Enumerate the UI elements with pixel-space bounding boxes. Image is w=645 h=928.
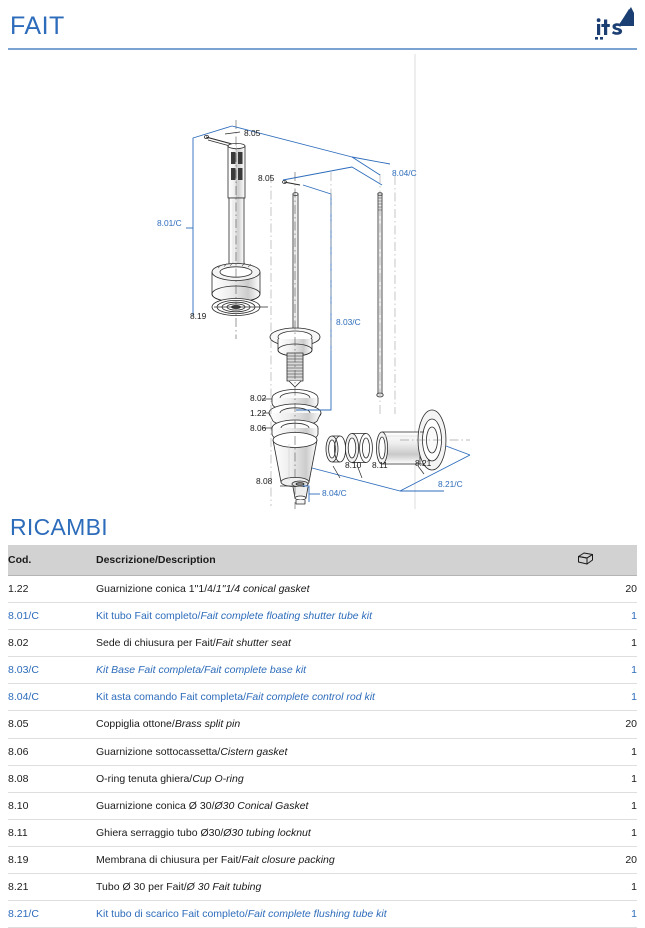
- its-logo: [585, 4, 637, 44]
- part-quantity: 20: [577, 711, 637, 738]
- part-split-pin-top: [204, 135, 232, 146]
- part-code: 8.02: [8, 630, 96, 657]
- part-code: 8.19: [8, 846, 96, 873]
- part-split-pin-mid: [283, 181, 301, 186]
- description-it: Guarnizione conica 1"1/4/: [96, 583, 216, 595]
- column-header-description: Descrizione/Description: [96, 545, 577, 576]
- table-row: 8.02Sede di chiusura per Fait/Fait shutt…: [8, 630, 637, 657]
- callout-8.04C-bot: 8.04/C: [322, 488, 347, 498]
- part-quantity: 1: [577, 630, 637, 657]
- description-it: Kit tubo di scarico Fait completo/: [96, 908, 248, 920]
- description-it: Guarnizione conica Ø 30/: [96, 800, 214, 812]
- description-en: Ø30 Conical Gasket: [214, 800, 308, 812]
- part-description: Ghiera serraggio tubo Ø30/Ø30 tubing loc…: [96, 819, 577, 846]
- part-code: 8.04/C: [8, 684, 96, 711]
- table-row: 8.10Guarnizione conica Ø 30/Ø30 Conical …: [8, 792, 637, 819]
- part-tubing-locknut: [345, 434, 372, 463]
- description-en: Cup O-ring: [192, 773, 243, 785]
- description-en: Ø 30 Fait tubing: [187, 881, 262, 893]
- callout-8.19: 8.19: [190, 311, 207, 321]
- table-row: 8.05Coppiglia ottone/Brass split pin20: [8, 711, 637, 738]
- parts-table-body: 1.22Guarnizione conica 1"1/4/1"1/4 conic…: [8, 576, 637, 928]
- part-description: Sede di chiusura per Fait/Fait shutter s…: [96, 630, 577, 657]
- description-it: Ghiera serraggio tubo Ø30/: [96, 827, 223, 839]
- parts-table-header-row: Cod. Descrizione/Description: [8, 545, 637, 576]
- part-code: 8.10: [8, 792, 96, 819]
- part-code: 8.01/C: [8, 603, 96, 630]
- column-header-quantity: [577, 545, 637, 576]
- description-it: Coppiglia ottone/: [96, 718, 175, 730]
- part-description: Kit asta comando Fait completa/Fait comp…: [96, 684, 577, 711]
- its-logo-mark: [585, 4, 637, 44]
- part-quantity: 1: [577, 819, 637, 846]
- part-description: Kit tubo Fait completo/Fait complete flo…: [96, 603, 577, 630]
- callout-8.05-mid: 8.05: [258, 173, 275, 183]
- callout-8.10: 8.10: [345, 460, 362, 470]
- part-quantity: 1: [577, 765, 637, 792]
- callout-1.22: 1.22: [250, 408, 267, 418]
- table-row: 8.04/CKit asta comando Fait completa/Fai…: [8, 684, 637, 711]
- description-it: O-ring tenuta ghiera/: [96, 773, 192, 785]
- part-description: O-ring tenuta ghiera/Cup O-ring: [96, 765, 577, 792]
- description-it: Guarnizione sottocassetta/: [96, 746, 220, 758]
- header-divider: [8, 48, 637, 50]
- box-icon: [577, 551, 594, 569]
- callout-8.21: 8.21: [415, 458, 432, 468]
- table-row: 8.06Guarnizione sottocassetta/Cistern ga…: [8, 738, 637, 765]
- description-it: Kit asta comando Fait completa/: [96, 691, 246, 703]
- callout-8.04C-top: 8.04/C: [392, 168, 417, 178]
- part-quantity: 1: [577, 900, 637, 927]
- parts-section: RICAMBI Cod. Descrizione/Description 1.2…: [0, 515, 645, 928]
- part-code: 8.08: [8, 765, 96, 792]
- part-code: 8.03/C: [8, 657, 96, 684]
- page-header: FAIT: [0, 0, 645, 50]
- description-en: Fait complete flushing tube kit: [248, 908, 387, 920]
- part-cup-oring: [292, 481, 308, 504]
- part-quantity: 1: [577, 873, 637, 900]
- callout-8.02: 8.02: [250, 393, 267, 403]
- part-code: 8.21: [8, 873, 96, 900]
- description-en: Fait closure packing: [241, 854, 334, 866]
- table-row: 1.22Guarnizione conica 1"1/4/1"1/4 conic…: [8, 576, 637, 603]
- table-row: 8.11Ghiera serraggio tubo Ø30/Ø30 tubing…: [8, 819, 637, 846]
- description-en: Cistern gasket: [220, 746, 287, 758]
- part-description: Membrana di chiusura per Fait/Fait closu…: [96, 846, 577, 873]
- part-description: Guarnizione sottocassetta/Cistern gasket: [96, 738, 577, 765]
- part-quantity: 1: [577, 792, 637, 819]
- table-row: 8.08O-ring tenuta ghiera/Cup O-ring1: [8, 765, 637, 792]
- description-it: Kit tubo Fait completo/: [96, 610, 200, 622]
- callout-8.08: 8.08: [256, 476, 273, 486]
- parts-table-head: Cod. Descrizione/Description: [8, 545, 637, 576]
- description-it: Membrana di chiusura per Fait/: [96, 854, 241, 866]
- table-row: 8.21/CKit tubo di scarico Fait completo/…: [8, 900, 637, 927]
- page-title: FAIT: [10, 14, 65, 39]
- callout-8.01C: 8.01/C: [157, 218, 182, 228]
- part-shutter-tube-shaft: [229, 198, 244, 274]
- part-description: Kit Base Fait completa/Fait complete bas…: [96, 657, 577, 684]
- description-en: 1"1/4 conical gasket: [216, 583, 310, 595]
- table-row: 8.19Membrana di chiusura per Fait/Fait c…: [8, 846, 637, 873]
- part-description: Guarnizione conica Ø 30/Ø30 Conical Gask…: [96, 792, 577, 819]
- callout-8.11: 8.11: [372, 460, 388, 470]
- description-it: Kit Base Fait completa/: [96, 664, 204, 676]
- part-quantity: 1: [577, 657, 637, 684]
- part-description: Coppiglia ottone/Brass split pin: [96, 711, 577, 738]
- part-description: Kit tubo di scarico Fait completo/Fait c…: [96, 900, 577, 927]
- description-en: Fait complete floating shutter tube kit: [200, 610, 372, 622]
- section-title: RICAMBI: [10, 515, 637, 539]
- part-code: 8.11: [8, 819, 96, 846]
- column-header-code: Cod.: [8, 545, 96, 576]
- parts-table: Cod. Descrizione/Description 1.22Guarniz…: [8, 545, 637, 928]
- callout-8.21C: 8.21/C: [438, 479, 463, 489]
- description-en: Brass split pin: [175, 718, 240, 730]
- table-row: 8.01/CKit tubo Fait completo/Fait comple…: [8, 603, 637, 630]
- description-en: Ø30 tubing locknut: [223, 827, 311, 839]
- table-row: 8.21Tubo Ø 30 per Fait/Ø 30 Fait tubing1: [8, 873, 637, 900]
- part-description: Guarnizione conica 1"1/4/1"1/4 conical g…: [96, 576, 577, 603]
- part-description: Tubo Ø 30 per Fait/Ø 30 Fait tubing: [96, 873, 577, 900]
- part-shutter-tube-head: [228, 143, 245, 198]
- part-quantity: 1: [577, 738, 637, 765]
- description-en: Fait shutter seat: [216, 637, 291, 649]
- description-en: Fait complete control rod kit: [246, 691, 375, 703]
- part-quantity: 1: [577, 603, 637, 630]
- part-code: 1.22: [8, 576, 96, 603]
- part-conical-gasket-810: [326, 436, 346, 462]
- callout-8.06: 8.06: [250, 423, 267, 433]
- description-en: Fait complete base kit: [204, 664, 306, 676]
- part-quantity: 20: [577, 846, 637, 873]
- assembly-drawing-svg: 8.05 8.05 8.01/C 8.04/C 8.19 8.03/C 8.02…: [0, 54, 645, 509]
- description-it: Tubo Ø 30 per Fait/: [96, 881, 187, 893]
- part-quantity: 1: [577, 684, 637, 711]
- description-it: Sede di chiusura per Fait/: [96, 637, 216, 649]
- fait-exploded-assembly-diagram: 8.05 8.05 8.01/C 8.04/C 8.19 8.03/C 8.02…: [0, 54, 645, 509]
- part-quantity: 20: [577, 576, 637, 603]
- part-control-rod-centre: [293, 193, 298, 336]
- part-code: 8.21/C: [8, 900, 96, 927]
- table-row: 8.03/CKit Base Fait completa/Fait comple…: [8, 657, 637, 684]
- part-code: 8.06: [8, 738, 96, 765]
- callout-8.03C: 8.03/C: [336, 317, 361, 327]
- callout-8.05-top: 8.05: [244, 128, 261, 138]
- part-code: 8.05: [8, 711, 96, 738]
